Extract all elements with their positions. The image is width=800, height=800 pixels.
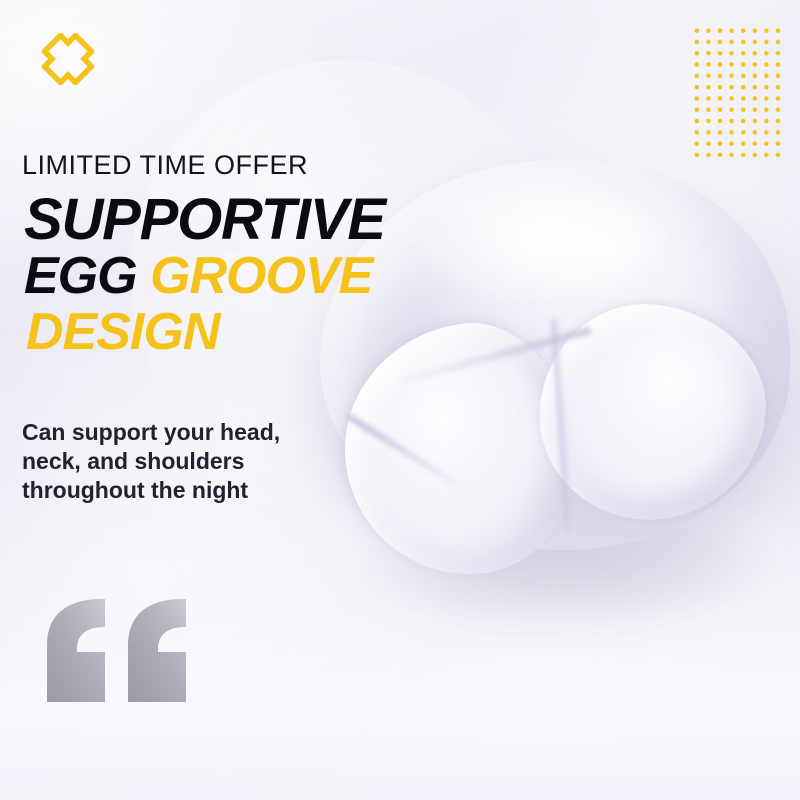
body-copy: Can support your head, neck, and shoulde… — [22, 418, 322, 505]
eyebrow-text: LIMITED TIME OFFER — [22, 152, 492, 179]
headline-line-2-black: EGG — [24, 247, 137, 305]
pillow-groove-lobe-right — [529, 294, 775, 531]
quote-mark-icon — [45, 597, 190, 702]
x-cross-icon — [42, 33, 94, 85]
headline-line-2-accent: GROOVE — [150, 247, 372, 305]
product-shadow — [350, 500, 780, 650]
headline-line-3: DESIGN — [26, 304, 492, 360]
pillow-groove-tail — [347, 413, 469, 493]
promo-poster: Lavender memory foam egg groove pillow L… — [0, 0, 800, 800]
dot-grid-pattern — [691, 25, 783, 159]
headline-line-1: SUPPORTIVE — [24, 193, 492, 248]
product-image-alt: Lavender memory foam egg groove pillow — [290, 140, 291, 141]
headline-line-2: EGG GROOVE — [24, 248, 492, 304]
headline-block: LIMITED TIME OFFER SUPPORTIVE EGG GROOVE… — [22, 152, 492, 360]
pillow-groove-vertical — [551, 318, 575, 533]
